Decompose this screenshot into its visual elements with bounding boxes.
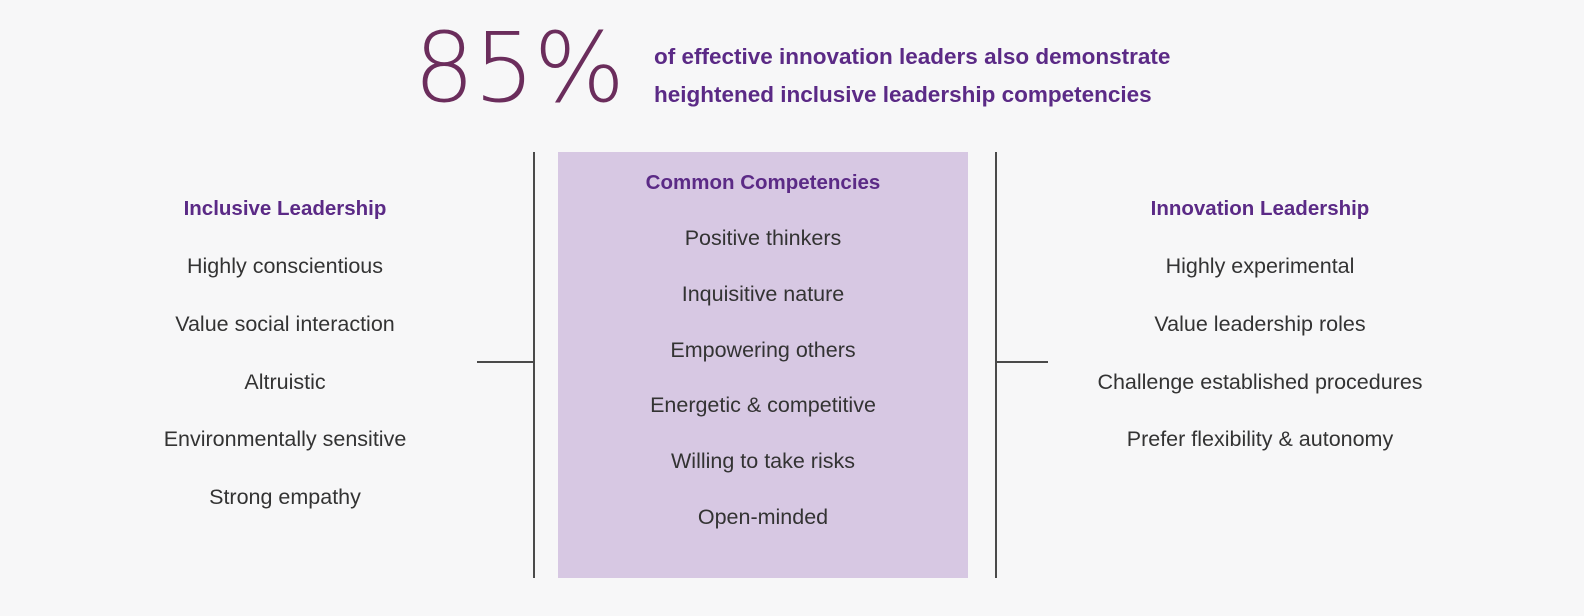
list-item: Environmentally sensitive — [60, 426, 510, 454]
column-inclusive-leadership: Inclusive Leadership Highly conscientiou… — [60, 196, 510, 512]
stat-caption-line-2: heightened inclusive leadership competen… — [654, 76, 1170, 114]
list-item: Energetic & competitive — [558, 392, 968, 420]
list-item: Highly experimental — [1040, 253, 1480, 281]
column-common-competencies: Common Competencies Positive thinkers In… — [558, 152, 968, 578]
list-item: Empowering others — [558, 337, 968, 365]
stat-caption-line-1: of effective innovation leaders also dem… — [654, 38, 1170, 76]
list-item: Willing to take risks — [558, 448, 968, 476]
headline-block: 85% of effective innovation leaders also… — [0, 18, 1584, 116]
bracket-line-left — [533, 152, 535, 578]
list-item: Value leadership roles — [1040, 311, 1480, 339]
list-item: Positive thinkers — [558, 225, 968, 253]
list-item: Highly conscientious — [60, 253, 510, 281]
list-item: Open-minded — [558, 504, 968, 532]
list-item: Strong empathy — [60, 484, 510, 512]
list-item: Challenge established procedures — [1040, 369, 1480, 397]
column-heading-inclusive-leadership: Inclusive Leadership — [60, 196, 510, 223]
column-heading-innovation-leadership: Innovation Leadership — [1040, 196, 1480, 223]
stat-percentage: 85% — [414, 20, 624, 116]
stat-caption: of effective innovation leaders also dem… — [654, 18, 1170, 114]
bracket-line-right — [995, 152, 997, 578]
infographic-canvas: 85% of effective innovation leaders also… — [0, 0, 1584, 616]
list-item: Value social interaction — [60, 311, 510, 339]
list-item: Inquisitive nature — [558, 281, 968, 309]
column-heading-common-competencies: Common Competencies — [558, 170, 968, 197]
list-item: Altruistic — [60, 369, 510, 397]
list-item: Prefer flexibility & autonomy — [1040, 426, 1480, 454]
column-innovation-leadership: Innovation Leadership Highly experimenta… — [1040, 196, 1480, 454]
